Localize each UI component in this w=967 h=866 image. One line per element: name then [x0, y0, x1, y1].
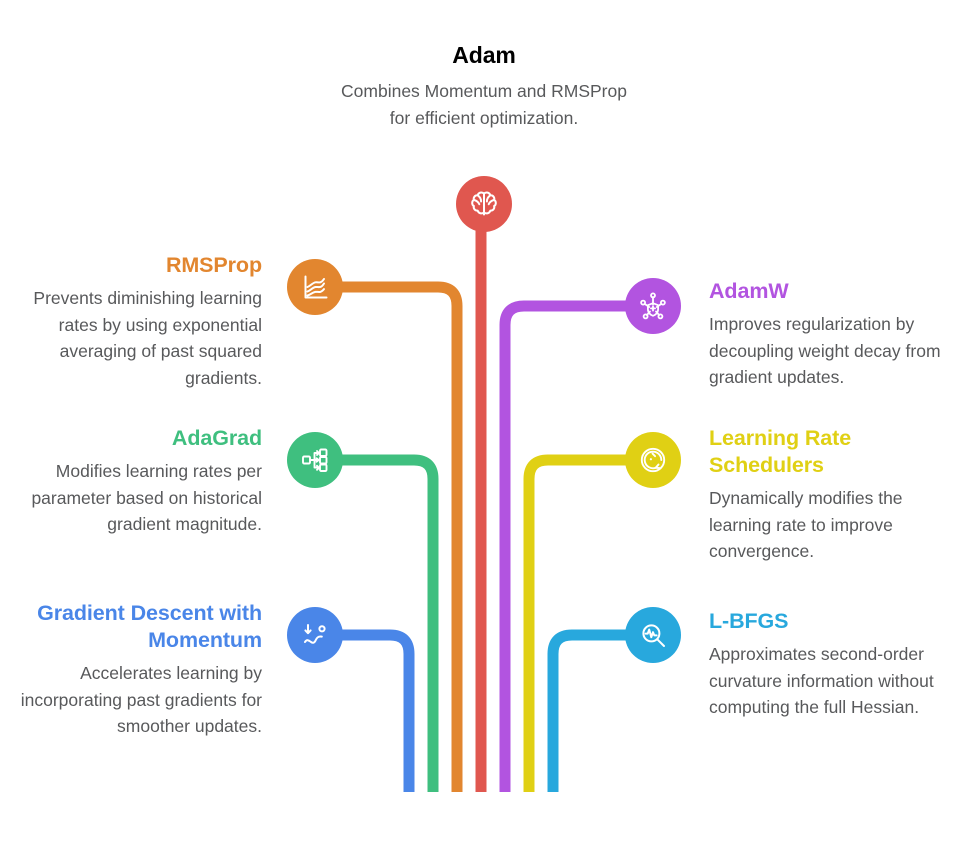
branch-title-rmsprop: RMSProp [18, 252, 262, 279]
branch-description-rmsprop: Prevents diminishing learning rates by u… [18, 285, 262, 391]
branch-text-rmsprop: RMSProp Prevents diminishing learning ra… [18, 252, 262, 391]
branch-description-gradient-descent-with-momentum: Accelerates learning by incorporating pa… [8, 660, 262, 740]
distribute-nodes-icon[interactable] [287, 432, 343, 488]
branch-text-lbfgs: L-BFGS Approximates second-order curvatu… [709, 608, 959, 721]
root-text-block: Adam Combines Momentum and RMSProp for e… [334, 40, 634, 131]
branch-text-gradient-descent-with-momentum: Gradient Descent with Momentum Accelerat… [8, 600, 262, 740]
branch-title-learning-rate-schedulers: Learning Rate Schedulers [709, 425, 959, 479]
connector-adamw [505, 306, 653, 792]
branch-title-lbfgs: L-BFGS [709, 608, 959, 635]
branch-text-adagrad: AdaGrad Modifies learning rates per para… [18, 425, 262, 538]
branch-description-lbfgs: Approximates second-order curvature info… [709, 641, 959, 721]
branch-description-adagrad: Modifies learning rates per parameter ba… [18, 458, 262, 538]
branch-title-adagrad: AdaGrad [18, 425, 262, 452]
connector-rmsprop [315, 287, 457, 792]
gauge-dial-icon[interactable] [625, 432, 681, 488]
branch-title-adamw: AdamW [709, 278, 955, 305]
branch-description-adamw: Improves regularization by decoupling we… [709, 311, 955, 391]
branch-text-learning-rate-schedulers: Learning Rate Schedulers Dynamically mod… [709, 425, 959, 565]
branch-title-gradient-descent-with-momentum: Gradient Descent with Momentum [8, 600, 262, 654]
root-description: Combines Momentum and RMSProp for effici… [334, 78, 634, 131]
root-title: Adam [334, 40, 634, 70]
branch-text-adamw: AdamW Improves regularization by decoupl… [709, 278, 955, 391]
brain-icon[interactable] [456, 176, 512, 232]
diagram-canvas: Adam Combines Momentum and RMSProp for e… [0, 0, 967, 866]
line-chart-icon[interactable] [287, 259, 343, 315]
network-shield-icon[interactable] [625, 278, 681, 334]
magnifier-waveform-icon[interactable] [625, 607, 681, 663]
descending-curve-icon[interactable] [287, 607, 343, 663]
branch-description-learning-rate-schedulers: Dynamically modifies the learning rate t… [709, 485, 959, 565]
